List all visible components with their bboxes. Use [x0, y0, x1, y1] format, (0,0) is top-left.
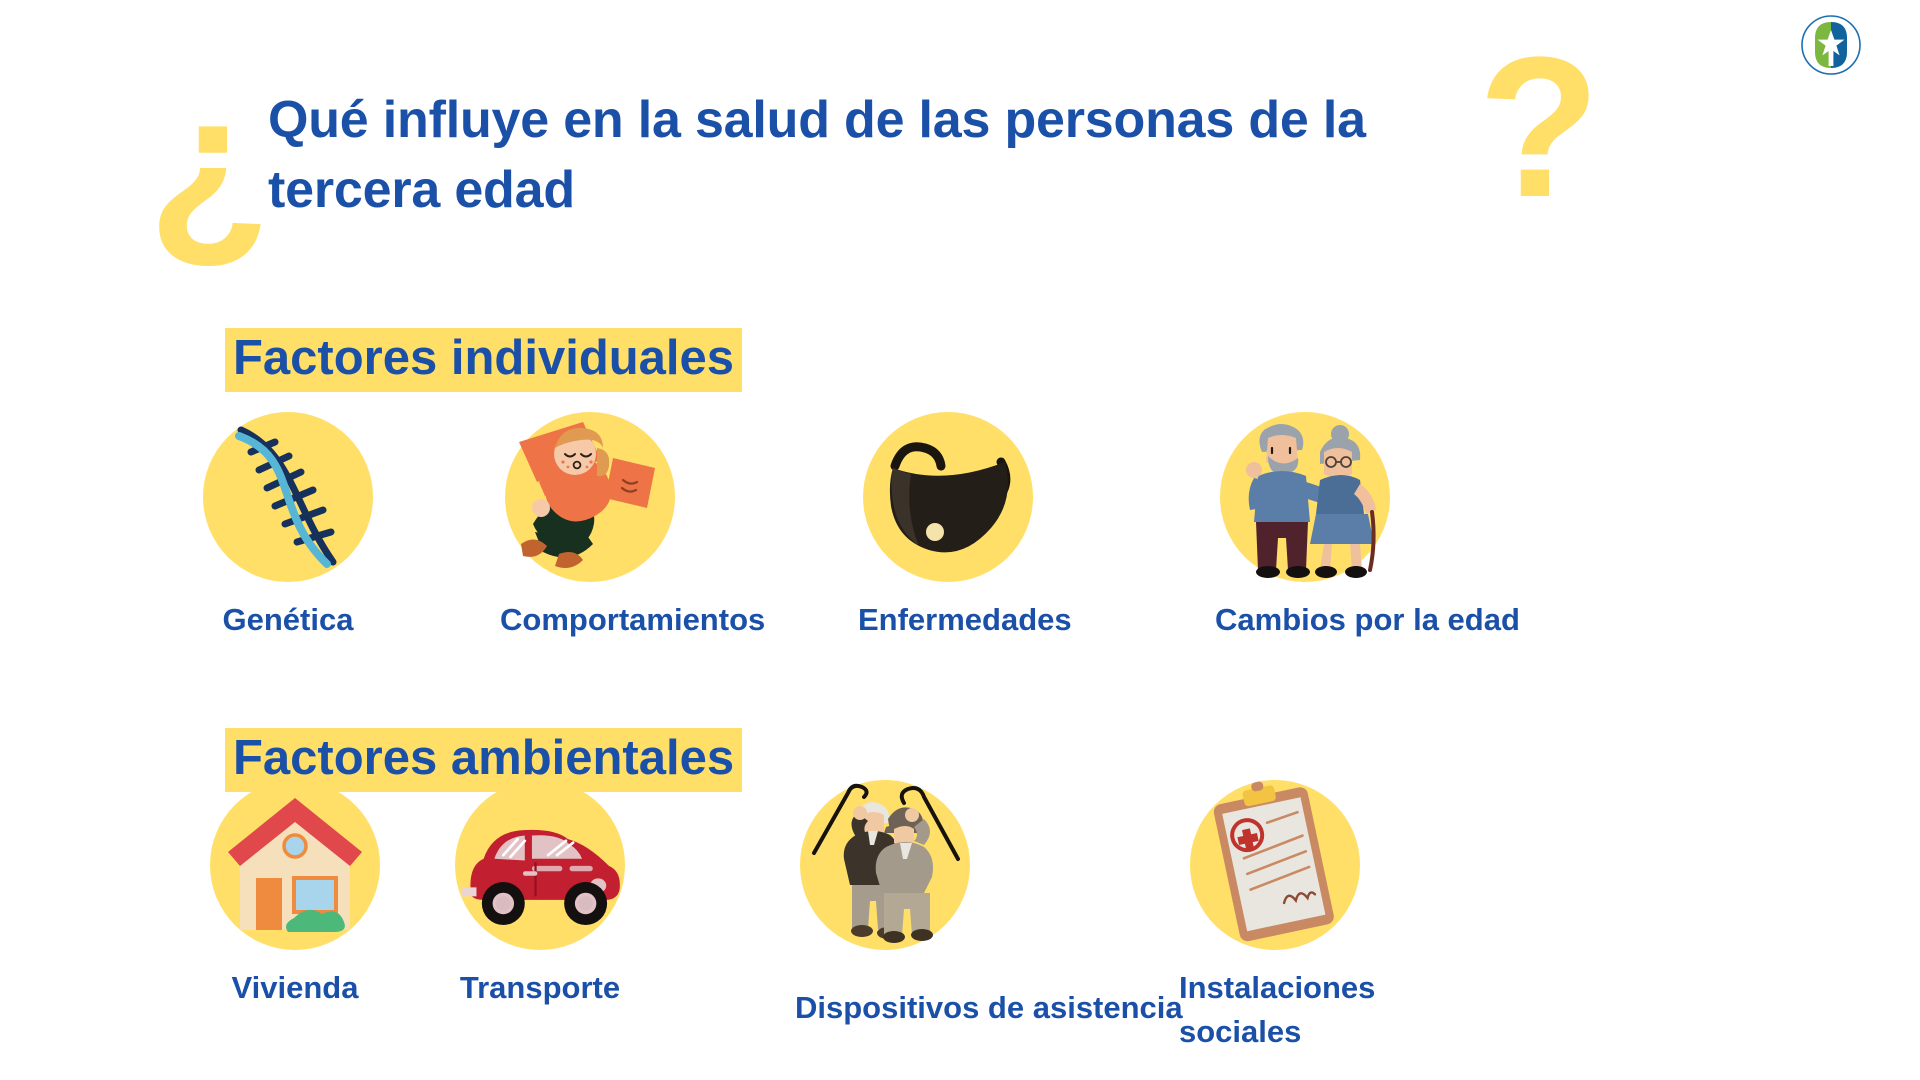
medical-clipboard-icon: [1190, 780, 1360, 950]
factor-item-enfermedades[interactable]: Enfermedades: [858, 412, 1038, 642]
icon-row-environmental-factors: Vivienda: [0, 780, 1920, 1030]
factor-item-dispositivos-de-asistencia[interactable]: Dispositivos de asistencia: [795, 780, 975, 1030]
icon-container: [210, 780, 380, 950]
car-icon: [455, 780, 625, 950]
icon-row-individual-factors: Genética: [0, 412, 1920, 662]
page-title: Qué influye en la salud de las personas …: [268, 86, 1388, 225]
factor-label: Dispositivos de asistencia: [795, 986, 975, 1030]
factor-label: Genética: [198, 598, 378, 642]
elderly-couple-icon: [1220, 412, 1390, 582]
factor-item-transporte[interactable]: Transporte: [450, 780, 630, 1010]
icon-container: [800, 780, 970, 950]
factor-item-vivienda[interactable]: Vivienda: [205, 780, 385, 1010]
factor-label: Enfermedades: [858, 598, 1038, 642]
section-heading-individual-factors: Factores individuales: [225, 328, 742, 392]
face-mask-icon: [863, 412, 1033, 582]
factor-label: Instalaciones sociales: [1179, 966, 1479, 1054]
factor-label: Vivienda: [205, 966, 385, 1010]
icon-container: [863, 412, 1033, 582]
dna-helix-icon: [203, 412, 373, 582]
icon-container: [1190, 780, 1360, 950]
factor-label: Transporte: [450, 966, 630, 1010]
icon-container: [1220, 412, 1390, 582]
factor-label: Comportamientos: [500, 598, 680, 642]
icon-container: [203, 412, 373, 582]
person-sleeping-icon: [505, 412, 675, 582]
icon-container: [455, 780, 625, 950]
inverted-question-mark-icon: ¿: [148, 92, 270, 236]
icon-container: [505, 412, 675, 582]
factor-item-genetica[interactable]: Genética: [198, 412, 378, 642]
house-icon: [210, 780, 380, 950]
factor-label: Cambios por la edad: [1215, 598, 1395, 642]
title-block: ¿ Qué influye en la salud de las persona…: [148, 52, 1578, 232]
organization-logo-icon: [1800, 14, 1862, 76]
factor-item-comportamientos[interactable]: Comportamientos: [500, 412, 680, 642]
factor-item-instalaciones-sociales[interactable]: Instalaciones sociales: [1185, 780, 1365, 1054]
two-elders-with-canes-icon: [800, 754, 970, 950]
question-mark-icon: ?: [1478, 56, 1600, 200]
factor-item-cambios-por-la-edad[interactable]: Cambios por la edad: [1215, 412, 1395, 642]
slide-root: ¿ Qué influye en la salud de las persona…: [0, 0, 1920, 1080]
